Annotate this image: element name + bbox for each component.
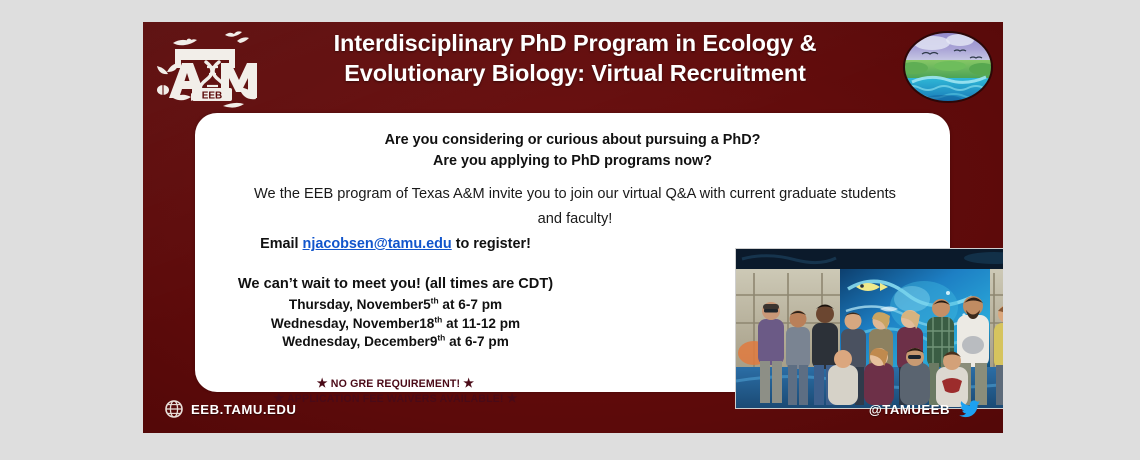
session-ordinal: th	[434, 314, 442, 324]
register-email-link[interactable]: njacobsen@tamu.edu	[303, 236, 452, 252]
eeb-group-photo	[735, 248, 1003, 409]
session-weekday: Wednesday,	[282, 334, 360, 349]
website-label[interactable]: EEB.TAMU.EDU	[191, 402, 296, 417]
star-icon: ★	[463, 376, 474, 390]
session-weekday: Wednesday,	[271, 316, 349, 331]
session-day: 5	[423, 297, 431, 312]
session-time: at 6-7 pm	[449, 334, 509, 349]
recruitment-flyer-slide: EEB Interdisciplinary PhD Program in	[143, 22, 1003, 433]
twitter-bird-icon[interactable]	[959, 400, 981, 418]
session-month: November	[353, 316, 419, 331]
session-ordinal: th	[431, 295, 439, 305]
ecosystem-globe-logo	[902, 30, 994, 104]
details-column: Email njacobsen@tamu.edu to register! We…	[203, 236, 588, 406]
twitter-handle-label[interactable]: @TAMUEEB	[869, 402, 950, 417]
session-day: 18	[419, 316, 434, 331]
screenshot-stage: EEB Interdisciplinary PhD Program in	[0, 0, 1140, 460]
session-time: at 6-7 pm	[442, 297, 502, 312]
session-date-row: Wednesday, November18th at 11-12 pm	[203, 315, 588, 334]
svg-text:EEB: EEB	[202, 91, 223, 102]
session-time: at 11-12 pm	[446, 316, 520, 331]
twitter-group[interactable]: @TAMUEEB	[869, 400, 981, 418]
title-line-2: Evolutionary Biology: Virtual Recruitmen…	[275, 58, 875, 88]
website-group[interactable]: EEB.TAMU.EDU	[165, 400, 296, 418]
flyer-footer: EEB.TAMU.EDU @TAMUEEB	[143, 393, 1003, 433]
session-dates: We can’t wait to meet you! (all times ar…	[203, 274, 588, 352]
session-month: November	[357, 297, 423, 312]
title-line-1: Interdisciplinary PhD Program in Ecology…	[275, 28, 875, 58]
question-line-1: Are you considering or curious about pur…	[195, 130, 950, 151]
session-date-row: Thursday, November5th at 6-7 pm	[203, 296, 588, 315]
question-line-2: Are you applying to PhD programs now?	[195, 151, 950, 172]
flyer-header: EEB Interdisciplinary PhD Program in	[143, 22, 1003, 114]
star-icon: ★	[317, 376, 328, 390]
dates-lead: We can’t wait to meet you! (all times ar…	[203, 274, 588, 295]
perk-label-1: NO GRE REQUIREMENT!	[331, 378, 460, 390]
globe-icon	[165, 400, 183, 418]
session-date-row: Wednesday, December9th at 6-7 pm	[203, 333, 588, 352]
session-ordinal: th	[437, 332, 445, 342]
page-title: Interdisciplinary PhD Program in Ecology…	[275, 28, 875, 88]
email-prefix: Email	[260, 236, 298, 252]
tamu-eeb-logo: EEB	[151, 28, 259, 112]
headline-questions: Are you considering or curious about pur…	[195, 130, 950, 172]
email-suffix: to register!	[456, 236, 531, 252]
perk-row-1: ★ NO GRE REQUIREMENT! ★	[203, 376, 588, 391]
session-month: December	[364, 334, 430, 349]
content-card: Are you considering or curious about pur…	[195, 113, 950, 392]
session-weekday: Thursday,	[289, 297, 353, 312]
invite-paragraph: We the EEB program of Texas A&M invite y…	[241, 182, 909, 232]
register-email-line: Email njacobsen@tamu.edu to register!	[203, 236, 588, 252]
